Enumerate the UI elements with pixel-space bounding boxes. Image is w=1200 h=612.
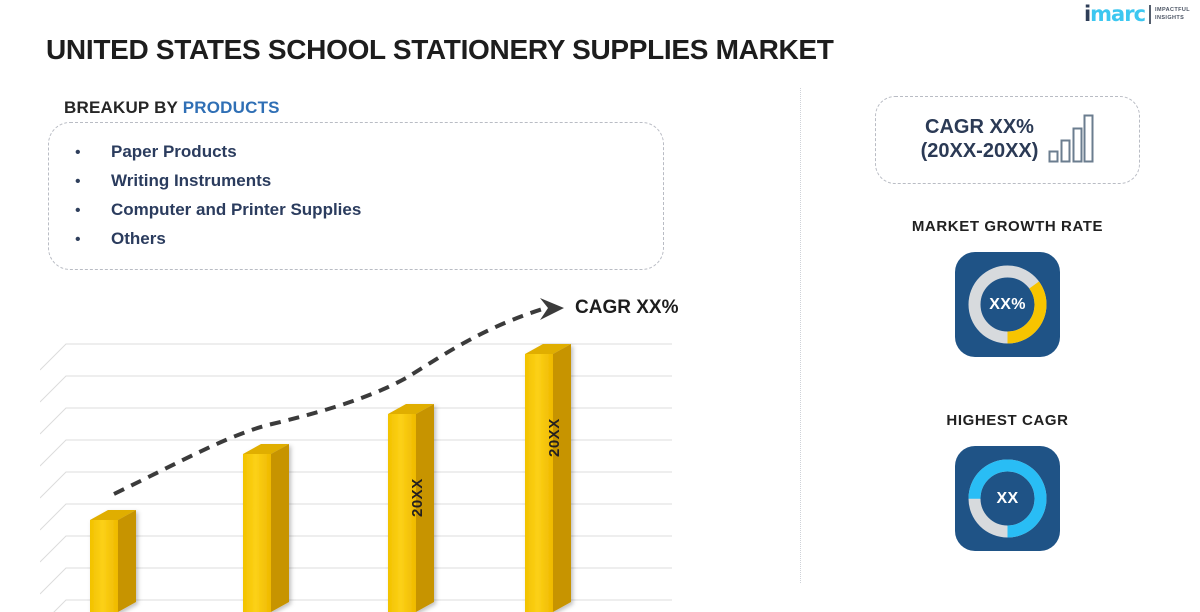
chart-cagr-annotation: CAGR XX% (575, 297, 678, 319)
bullet-icon: • (71, 167, 111, 196)
caption-highest-cagr: HIGHEST CAGR (875, 412, 1140, 429)
chart-bar-2 (243, 444, 289, 612)
cagr-line1: CAGR XX% (921, 116, 1039, 140)
list-item-label: Computer and Printer Supplies (111, 195, 361, 224)
logo-name: marc (1090, 2, 1145, 26)
logo-tagline-line2: INSIGHTS (1155, 14, 1190, 22)
list-item: • Computer and Printer Supplies (71, 195, 361, 224)
bullet-icon: • (71, 196, 111, 225)
breakup-heading: BREAKUP BY PRODUCTS (64, 98, 280, 118)
list-item: • Paper Products (71, 137, 361, 166)
chart-bar-4 (525, 344, 571, 612)
list-item-label: Paper Products (111, 137, 237, 166)
bar-chart-icon (1048, 113, 1094, 168)
logo-wordmark: imarc (1084, 4, 1145, 25)
list-item-label: Others (111, 224, 166, 253)
logo-tagline-line1: IMPACTFUL (1155, 6, 1190, 14)
list-item-label: Writing Instruments (111, 166, 271, 195)
cagr-summary-text: CAGR XX% (20XX-20XX) (921, 116, 1039, 163)
breakup-heading-accent: PRODUCTS (183, 98, 280, 117)
chart-trend-line (114, 298, 564, 494)
bullet-icon: • (71, 225, 111, 254)
chart-svg (40, 282, 740, 612)
section-divider (800, 88, 801, 583)
list-item: • Writing Instruments (71, 166, 361, 195)
donut-growth-value: XX% (955, 252, 1060, 357)
market-growth-bar-chart: 20XX 20XX (40, 282, 740, 612)
list-item: • Others (71, 224, 361, 253)
chart-bar-1 (90, 510, 136, 612)
brand-logo: imarc IMPACTFUL INSIGHTS (1084, 4, 1190, 25)
caption-market-growth-rate: MARKET GROWTH RATE (875, 218, 1140, 235)
logo-tagline: IMPACTFUL INSIGHTS (1155, 4, 1190, 23)
donut-card-highest-cagr: XX (955, 446, 1060, 551)
donut-card-market-growth-rate: XX% (955, 252, 1060, 357)
breakup-box: • Paper Products • Writing Instruments •… (48, 122, 664, 270)
breakup-list: • Paper Products • Writing Instruments •… (71, 137, 361, 253)
breakup-heading-prefix: BREAKUP BY (64, 98, 183, 117)
cagr-line2: (20XX-20XX) (921, 140, 1039, 164)
bullet-icon: • (71, 138, 111, 167)
page-title: UNITED STATES SCHOOL STATIONERY SUPPLIES… (46, 34, 834, 66)
trend-arrowhead (540, 298, 564, 320)
donut-highest-value: XX (955, 446, 1060, 551)
cagr-summary-box: CAGR XX% (20XX-20XX) (875, 96, 1140, 184)
bar-year-label-3: 20XX (409, 478, 426, 517)
logo-divider (1149, 5, 1151, 24)
bar-year-label-4: 20XX (546, 418, 563, 457)
